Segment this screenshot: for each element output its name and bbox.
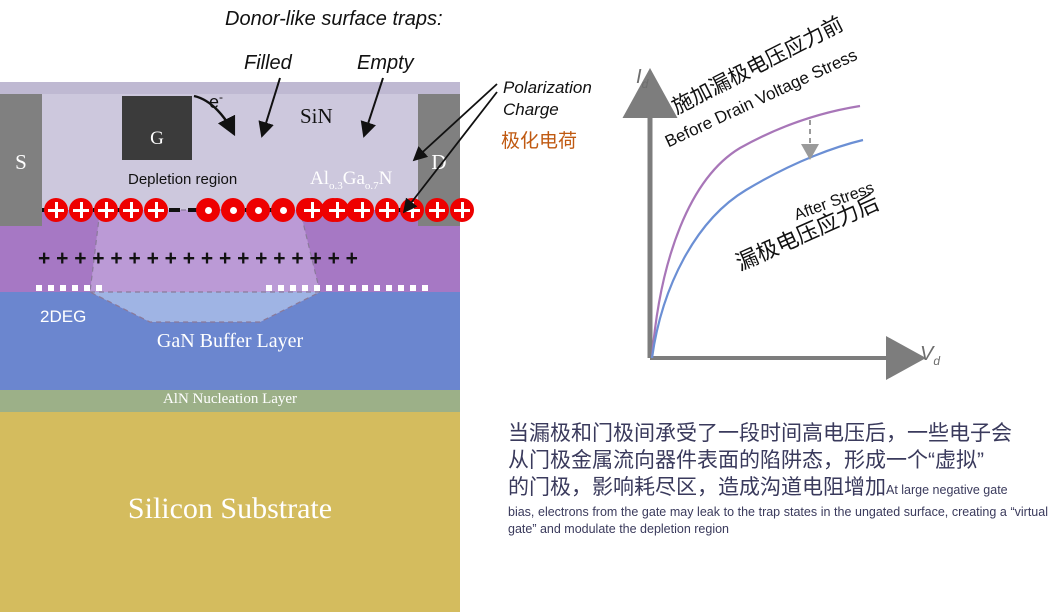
trap-plus-horizontal — [404, 209, 420, 212]
trap-filled-0 — [196, 198, 220, 222]
gan-layer-label: GaN Buffer Layer — [0, 330, 460, 353]
chinese-text-line3: 的门极，影响耗尽区，造成沟道电阻增加At large negative gate — [508, 474, 1048, 504]
chinese-text-line3-text: 的门极，影响耗尽区，造成沟道电阻增加 — [508, 476, 886, 499]
trap-plus-horizontal — [354, 209, 370, 212]
english-text-rest: bias, electrons from the gate may leak t… — [508, 504, 1048, 538]
x-axis-label-sub: d — [933, 354, 940, 368]
trap-empty-right-0 — [300, 198, 324, 222]
y-axis-label-sub: d — [642, 77, 649, 91]
trap-filled-1 — [221, 198, 245, 222]
trap-plus-horizontal — [73, 209, 89, 212]
trap-filled-dot — [280, 207, 287, 214]
y-axis-label: Id — [636, 66, 648, 91]
trap-plus-horizontal — [454, 209, 470, 212]
trap-plus-horizontal — [48, 209, 64, 212]
trap-empty-right-1 — [325, 198, 349, 222]
aln-layer-label: AlN Nucleation Layer — [0, 391, 460, 408]
gate-electrode: G — [122, 96, 192, 160]
electron-e: e — [209, 92, 219, 112]
chinese-text-line1: 当漏极和门极间承受了一段时间高电压后，一些电子会 — [508, 420, 1048, 447]
twodeg-line — [36, 284, 428, 292]
trap-empty-right-2 — [350, 198, 374, 222]
trap-plus-horizontal — [98, 209, 114, 212]
device-cross-section: + + + + + + + + + + + + + + + + + + S D … — [0, 82, 460, 542]
gate-label: G — [122, 128, 192, 150]
trap-empty-left-0 — [44, 198, 68, 222]
algan-ga: Ga — [343, 168, 365, 189]
source-label: S — [0, 150, 42, 175]
trap-empty-left-3 — [119, 198, 143, 222]
trap-group-left-empty — [44, 198, 174, 224]
electron-label: e- — [209, 90, 223, 113]
empty-trap-label: Empty — [357, 52, 414, 75]
filled-trap-label: Filled — [244, 52, 292, 75]
algan-sub1: o.3 — [329, 180, 343, 192]
x-axis-label: Vd — [920, 343, 940, 368]
trap-plus-horizontal — [148, 209, 164, 212]
trap-plus-horizontal — [429, 209, 445, 212]
trap-empty-left-1 — [69, 198, 93, 222]
trap-filled-dot — [205, 207, 212, 214]
polarization-charge-label-chinese: 极化电荷 — [501, 126, 577, 153]
trap-group-right-empty — [300, 198, 428, 224]
trap-empty-left-2 — [94, 198, 118, 222]
algan-n: N — [379, 168, 393, 189]
trap-filled-3 — [271, 198, 295, 222]
trap-empty-right-3 — [375, 198, 399, 222]
electron-minus: - — [219, 90, 223, 104]
iv-characteristic-chart: Id Vd 施加漏极电压应力前 Before Drain Voltage Str… — [620, 58, 980, 388]
polarization-plus-row: + + + + + + + + + + + + + + + + + + — [38, 247, 358, 271]
trap-filled-dot — [230, 207, 237, 214]
source-electrode: S — [0, 94, 42, 226]
trap-filled-dot — [255, 207, 262, 214]
algan-al: Al — [310, 168, 329, 189]
trap-plus-horizontal — [329, 209, 345, 212]
english-text-inline: At large negative gate — [886, 483, 1008, 497]
trap-filled-2 — [246, 198, 270, 222]
explanatory-text-block: 当漏极和门极间承受了一段时间高电压后，一些电子会 从门极金属流向器件表面的陷阱态… — [508, 420, 1048, 538]
sin-layer-label: SiN — [300, 104, 333, 129]
twodeg-label: 2DEG — [40, 307, 86, 327]
drain-label: D — [418, 150, 460, 175]
trap-empty-left-4 — [144, 198, 168, 222]
chinese-text-line2: 从门极金属流向器件表面的陷阱态，形成一个“虚拟” — [508, 447, 1048, 474]
trap-empty-right-5 — [425, 198, 449, 222]
trap-empty-right-4 — [400, 198, 424, 222]
slide-canvas: + + + + + + + + + + + + + + + + + + S D … — [0, 0, 1054, 562]
layer-sin-cap — [0, 82, 460, 94]
algan-layer-label: Alo.3Gao.7N — [310, 168, 392, 192]
polarization-charge-label-line1: Polarization — [503, 78, 592, 98]
donor-traps-title: Donor-like surface traps: — [225, 8, 443, 31]
silicon-layer-label: Silicon Substrate — [0, 492, 460, 526]
algan-sub2: o.7 — [365, 180, 379, 192]
depletion-region-label: Depletion region — [128, 171, 237, 188]
x-axis-label-text: V — [920, 343, 933, 365]
trap-plus-horizontal — [379, 209, 395, 212]
polarization-charge-label-line2: Charge — [503, 100, 559, 120]
trap-plus-horizontal — [123, 209, 139, 212]
trap-empty-right-6 — [450, 198, 474, 222]
trap-plus-horizontal — [304, 209, 320, 212]
